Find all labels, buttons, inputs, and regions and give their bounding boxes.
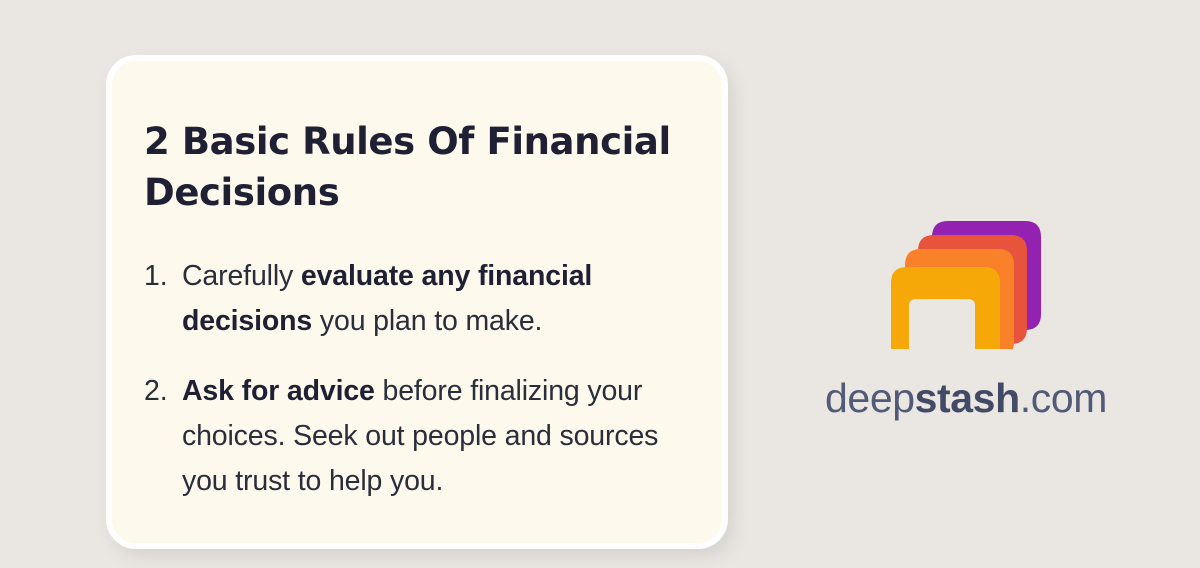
wordmark-prefix: deep (825, 375, 915, 421)
list-item-marker: 2. (144, 369, 176, 414)
rule-segment-emphasis: Ask for advice (182, 375, 375, 407)
page-title: 2 Basic Rules Of Financial Decisions (144, 116, 682, 218)
list-item: 2. Ask for advice before finalizing your… (144, 369, 682, 504)
brand-wordmark: deepstash.com (780, 375, 1152, 422)
poster-canvas: 2 Basic Rules Of Financial Decisions 1. … (0, 0, 1200, 568)
rule-segment-plain-tail: you plan to make. (312, 305, 542, 337)
list-item-text: Ask for advice before finalizing your ch… (182, 375, 658, 497)
brand-block: deepstash.com (780, 185, 1152, 422)
list-item-marker: 1. (144, 254, 176, 299)
deepstash-stacked-cards-logo (891, 199, 1041, 349)
wordmark-suffix: .com (1020, 375, 1107, 421)
rules-list: 1. Carefully evaluate any financial deci… (144, 254, 682, 504)
logo-inner-cutout (909, 299, 975, 349)
list-item-text: Carefully evaluate any financial decisio… (182, 260, 592, 337)
quote-card: 2 Basic Rules Of Financial Decisions 1. … (106, 55, 728, 549)
wordmark-emphasis: stash (915, 375, 1020, 421)
list-item: 1. Carefully evaluate any financial deci… (144, 254, 682, 344)
rule-segment-plain: Carefully (182, 260, 301, 292)
